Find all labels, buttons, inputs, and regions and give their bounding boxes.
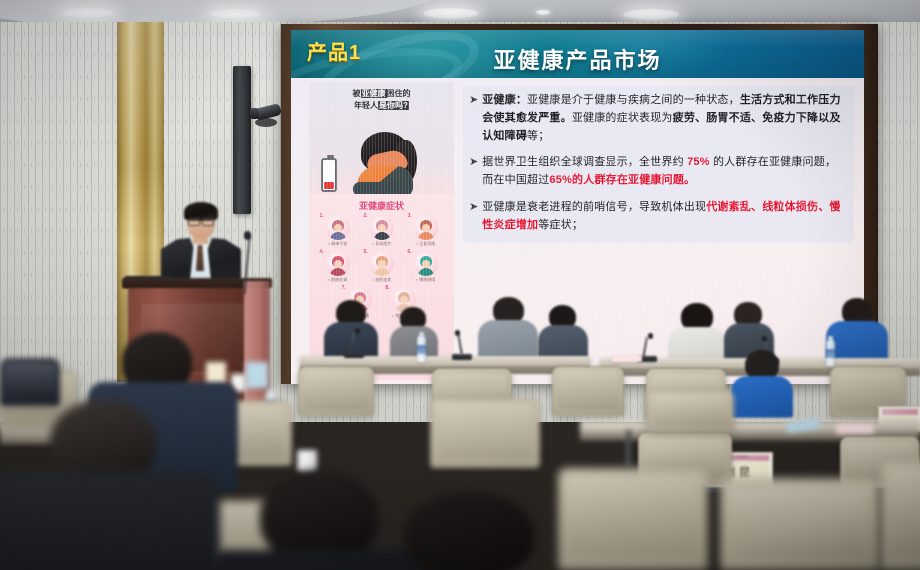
bullet-segment: 等症状； — [538, 219, 583, 231]
bullet-segment: 的人群存在亚健康问题，而在中国超过 — [482, 156, 836, 186]
headline-highlight-2: 是你吗? — [378, 101, 409, 110]
microphone-base — [452, 354, 472, 360]
ceiling-light — [423, 8, 479, 19]
bullet-segment: 疲劳、肠胃不适、免疫力下降以及认知障碍 — [482, 112, 840, 142]
symptom-number: 3. — [408, 213, 412, 219]
bullet-marker-icon: ➤ — [469, 154, 478, 190]
symptom-number: 8. — [386, 285, 390, 291]
symptom-label: ○ 脏腑失调 — [318, 277, 358, 283]
avatar-hair — [332, 256, 344, 267]
person-body — [357, 166, 413, 196]
ceiling-light — [60, 8, 116, 19]
attendee-body — [0, 472, 220, 570]
bullet-segment: 亚健康： — [482, 94, 527, 106]
symptom-avatar-icon — [326, 216, 350, 240]
bottle-label — [826, 349, 835, 358]
desk-microphone-tip — [355, 328, 360, 334]
symptom-label: ○ 睡眠障碍 — [406, 277, 446, 283]
slide-bullet: ➤据世界卫生组织全球调查显示，全世界约 75% 的人群存在亚健康问题，而在中国超… — [469, 154, 846, 190]
avatar-body — [418, 268, 434, 276]
symptom-item: 1.○ 精神不振 — [318, 214, 358, 247]
symptom-item: 5.○ 皮肤变差 — [362, 250, 402, 283]
chair — [552, 366, 624, 416]
symptom-label: ○ 身体疲劳 — [362, 241, 402, 247]
avatar-face — [378, 260, 386, 268]
attendee-head — [260, 470, 378, 562]
symptom-number: 7. — [342, 285, 346, 291]
symptom-avatar-icon — [414, 216, 438, 240]
person-hair — [361, 132, 409, 172]
avatar-face — [334, 224, 342, 232]
symptom-number: 4. — [320, 249, 324, 255]
bullet-marker-icon: ➤ — [469, 199, 478, 235]
symptom-avatar-icon — [326, 252, 350, 276]
avatar-face — [422, 260, 430, 268]
wall-speaker — [233, 66, 251, 214]
bullet-segment: 代谢紊乱、线粒体损伤、慢性炎症增加 — [482, 201, 840, 231]
avatar-body — [374, 268, 390, 276]
bullet-segment: 75% — [687, 156, 710, 168]
avatar-face — [334, 260, 342, 268]
sad-person-illustration — [349, 130, 423, 194]
slide-bullet: ➤亚健康：亚健康是介于健康与疾病之间的一种状态，生活方式和工作压力会使其愈发严重… — [469, 92, 846, 145]
avatar-body — [330, 268, 346, 276]
symptom-label: ○ 精神不振 — [318, 241, 358, 247]
avatar-face — [378, 224, 386, 232]
symptom-number: 5. — [364, 249, 368, 255]
person-legs — [353, 182, 411, 198]
symptoms-grid: 1.○ 精神不振2.○ 身体疲劳3.○ 注意涣散4.○ 脏腑失调5.○ 皮肤变差… — [315, 214, 448, 319]
camera-lens-icon — [250, 108, 259, 119]
bullet-text: 亚健康：亚健康是介于健康与疾病之间的一种状态，生活方式和工作压力会使其愈发严重。… — [482, 92, 846, 145]
bullet-marker-icon: ➤ — [469, 92, 478, 145]
illustration-headline: 被亚健康困住的 年轻人是你吗? — [309, 88, 454, 112]
avatar-hair — [332, 220, 344, 231]
symptom-item: 2.○ 身体疲劳 — [362, 214, 402, 247]
desk-microphone-tip — [648, 333, 653, 339]
symptom-avatar-icon — [414, 252, 438, 276]
chair — [880, 460, 920, 570]
document — [836, 424, 874, 434]
headline-line2-pre: 年轻人 — [354, 101, 378, 110]
symptom-item: 3.○ 注意涣散 — [406, 214, 446, 247]
bullet-segment: 生活方式和工作压力会使其愈发严重。 — [482, 94, 840, 124]
bullet-segment: 亚健康是衰老进程的前哨信号，导致机体出现 — [482, 201, 706, 213]
bullet-segment: 亚健康是介于健康与疾病之间的一种状态， — [527, 94, 740, 106]
headline-highlight-1: 亚健康 — [361, 89, 387, 98]
avatar-body — [418, 232, 434, 240]
avatar-hair — [376, 256, 388, 267]
ceiling-light-small — [536, 10, 550, 15]
person-arm — [365, 148, 408, 176]
water-bottle — [417, 336, 426, 362]
desk-microphone-tip — [762, 336, 767, 342]
bullet-segment: 65%的人群存在亚健康问题。 — [549, 174, 695, 186]
avatar-face — [400, 296, 408, 304]
chair — [558, 468, 708, 570]
symptom-number: 6. — [408, 249, 412, 255]
chair — [646, 390, 734, 432]
podium-microphone — [244, 231, 251, 240]
chair — [298, 366, 374, 416]
symptom-item: 6.○ 睡眠障碍 — [406, 250, 446, 283]
ceiling-light — [623, 9, 679, 20]
avatar-body — [374, 232, 390, 240]
water-bottle — [826, 340, 835, 366]
avatar-body — [330, 232, 346, 240]
presenter-glasses — [188, 218, 214, 224]
bullet-text: 亚健康是衰老进程的前哨信号，导致机体出现代谢紊乱、线粒体损伤、慢性炎症增加等症状… — [482, 199, 846, 235]
placard-header-bar — [882, 409, 918, 415]
document — [612, 355, 642, 362]
chair — [0, 358, 60, 406]
headline-pre: 被 — [353, 89, 361, 98]
document — [246, 362, 268, 388]
avatar-hair — [398, 292, 410, 303]
microphone-base — [344, 352, 364, 358]
headline-post: 困住的 — [387, 89, 411, 98]
symptom-avatar-icon — [370, 252, 394, 276]
low-battery-icon — [321, 158, 337, 192]
bullet-segment: 据世界卫生组织全球调查显示，全世界约 — [482, 156, 687, 168]
symptom-label: ○ 注意涣散 — [406, 241, 446, 247]
bullet-segment: 亚健康的症状表现为 — [572, 112, 673, 124]
slide-text-block: ➤亚健康：亚健康是介于健康与疾病之间的一种状态，生活方式和工作压力会使其愈发严重… — [463, 86, 854, 243]
slide-bullet: ➤亚健康是衰老进程的前哨信号，导致机体出现代谢紊乱、线粒体损伤、慢性炎症增加等症… — [469, 199, 846, 235]
chair — [720, 478, 880, 570]
desk-leg — [626, 430, 631, 466]
ceiling-light — [207, 9, 263, 20]
symptoms-title: 亚健康症状 — [309, 199, 454, 212]
symptom-number: 1. — [320, 213, 324, 219]
symptom-avatar-icon — [370, 216, 394, 240]
avatar-hair — [420, 256, 432, 267]
desk-microphone-tip — [455, 330, 460, 336]
slide-title: 亚健康产品市场 — [291, 43, 864, 75]
slide-banner: 产品1 亚健康产品市场 — [291, 30, 864, 78]
battery-level — [324, 182, 334, 189]
attendee-head — [404, 492, 534, 570]
attendee-body — [731, 376, 793, 418]
conference-room-photo: 产品1 亚健康产品市场 被亚健康困住的 年轻人是你吗? — [0, 0, 920, 570]
bullet-text: 据世界卫生组织全球调查显示，全世界约 75% 的人群存在亚健康问题，而在中国超过… — [482, 154, 846, 190]
symptom-item: 4.○ 脏腑失调 — [318, 250, 358, 283]
person-hair-side — [395, 140, 417, 184]
symptom-label: ○ 皮肤变差 — [362, 277, 402, 283]
avatar-hair — [376, 220, 388, 231]
chair — [430, 398, 540, 468]
avatar-face — [422, 224, 430, 232]
bullet-segment: 等； — [527, 130, 549, 142]
bottle-label — [417, 345, 426, 354]
symptom-number: 2. — [364, 213, 368, 219]
avatar-hair — [420, 220, 432, 231]
